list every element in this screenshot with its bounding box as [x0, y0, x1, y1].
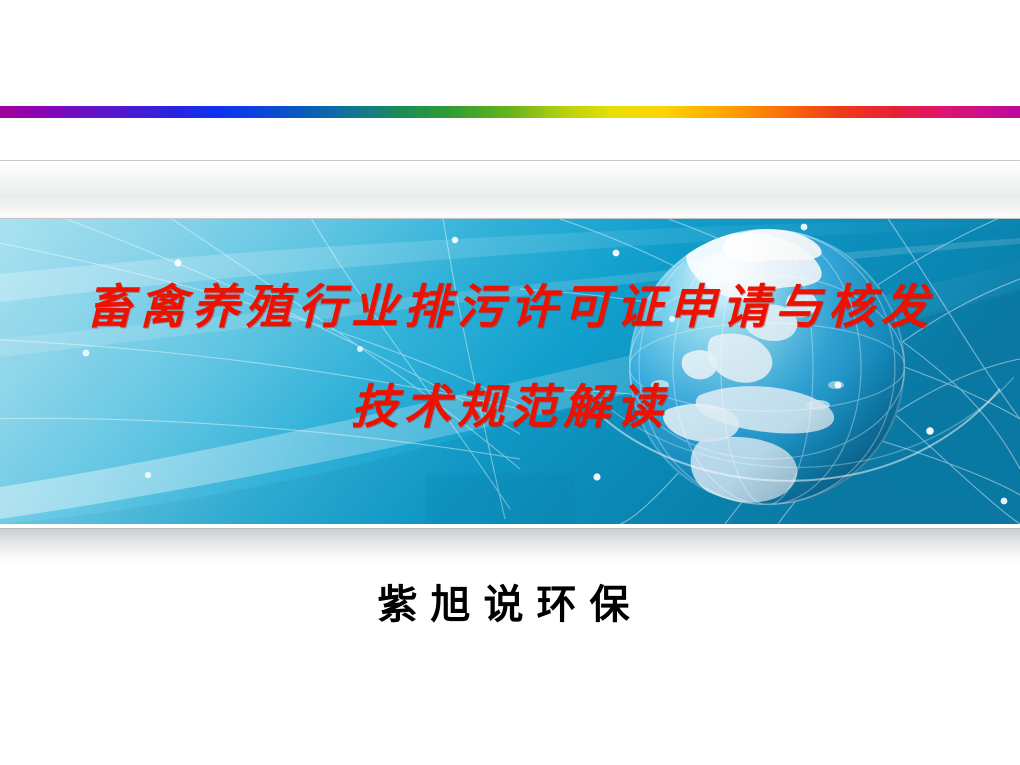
banner-drop-shadow [0, 529, 1020, 563]
empty-content-placeholder [425, 473, 575, 524]
top-white-area [0, 0, 1020, 106]
rainbow-gradient-rule [0, 106, 1020, 118]
upper-white-band [0, 118, 1020, 161]
decorative-ribbon-band [0, 161, 1020, 218]
presentation-slide: 畜禽养殖行业排污许可证申请与核发 技术规范解读 紫旭说环保 [0, 0, 1020, 765]
slide-subtitle: 紫旭说环保 [0, 572, 1020, 630]
